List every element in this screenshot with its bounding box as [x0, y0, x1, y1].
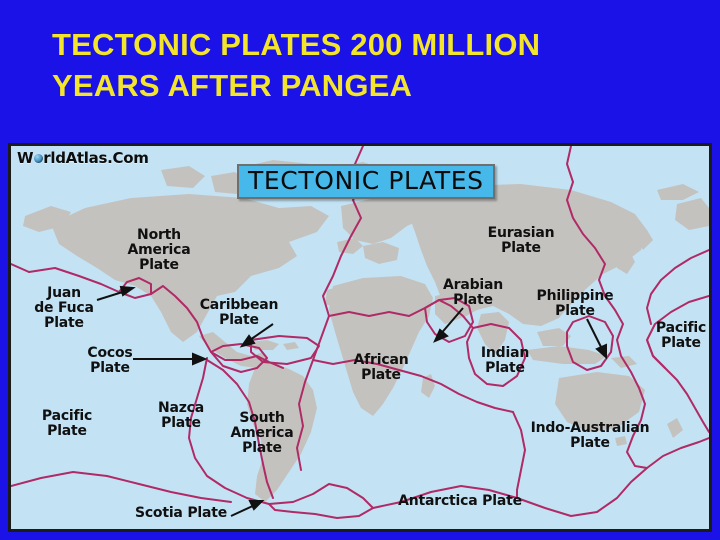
world-map-graphic [11, 146, 709, 529]
logo-text-before: W [17, 149, 33, 167]
tectonic-plates-map: WrldAtlas.Com TECTONIC PLATES North Amer… [8, 143, 712, 532]
globe-icon [34, 154, 43, 163]
slide-canvas: TECTONIC PLATES 200 MILLION YEARS AFTER … [0, 0, 720, 540]
map-title-box: TECTONIC PLATES [237, 164, 495, 199]
map-title-text: TECTONIC PLATES [248, 167, 484, 194]
worldatlas-logo: WrldAtlas.Com [17, 149, 149, 167]
page-title: TECTONIC PLATES 200 MILLION YEARS AFTER … [52, 24, 692, 106]
logo-text-after: rldAtlas.Com [43, 149, 148, 167]
